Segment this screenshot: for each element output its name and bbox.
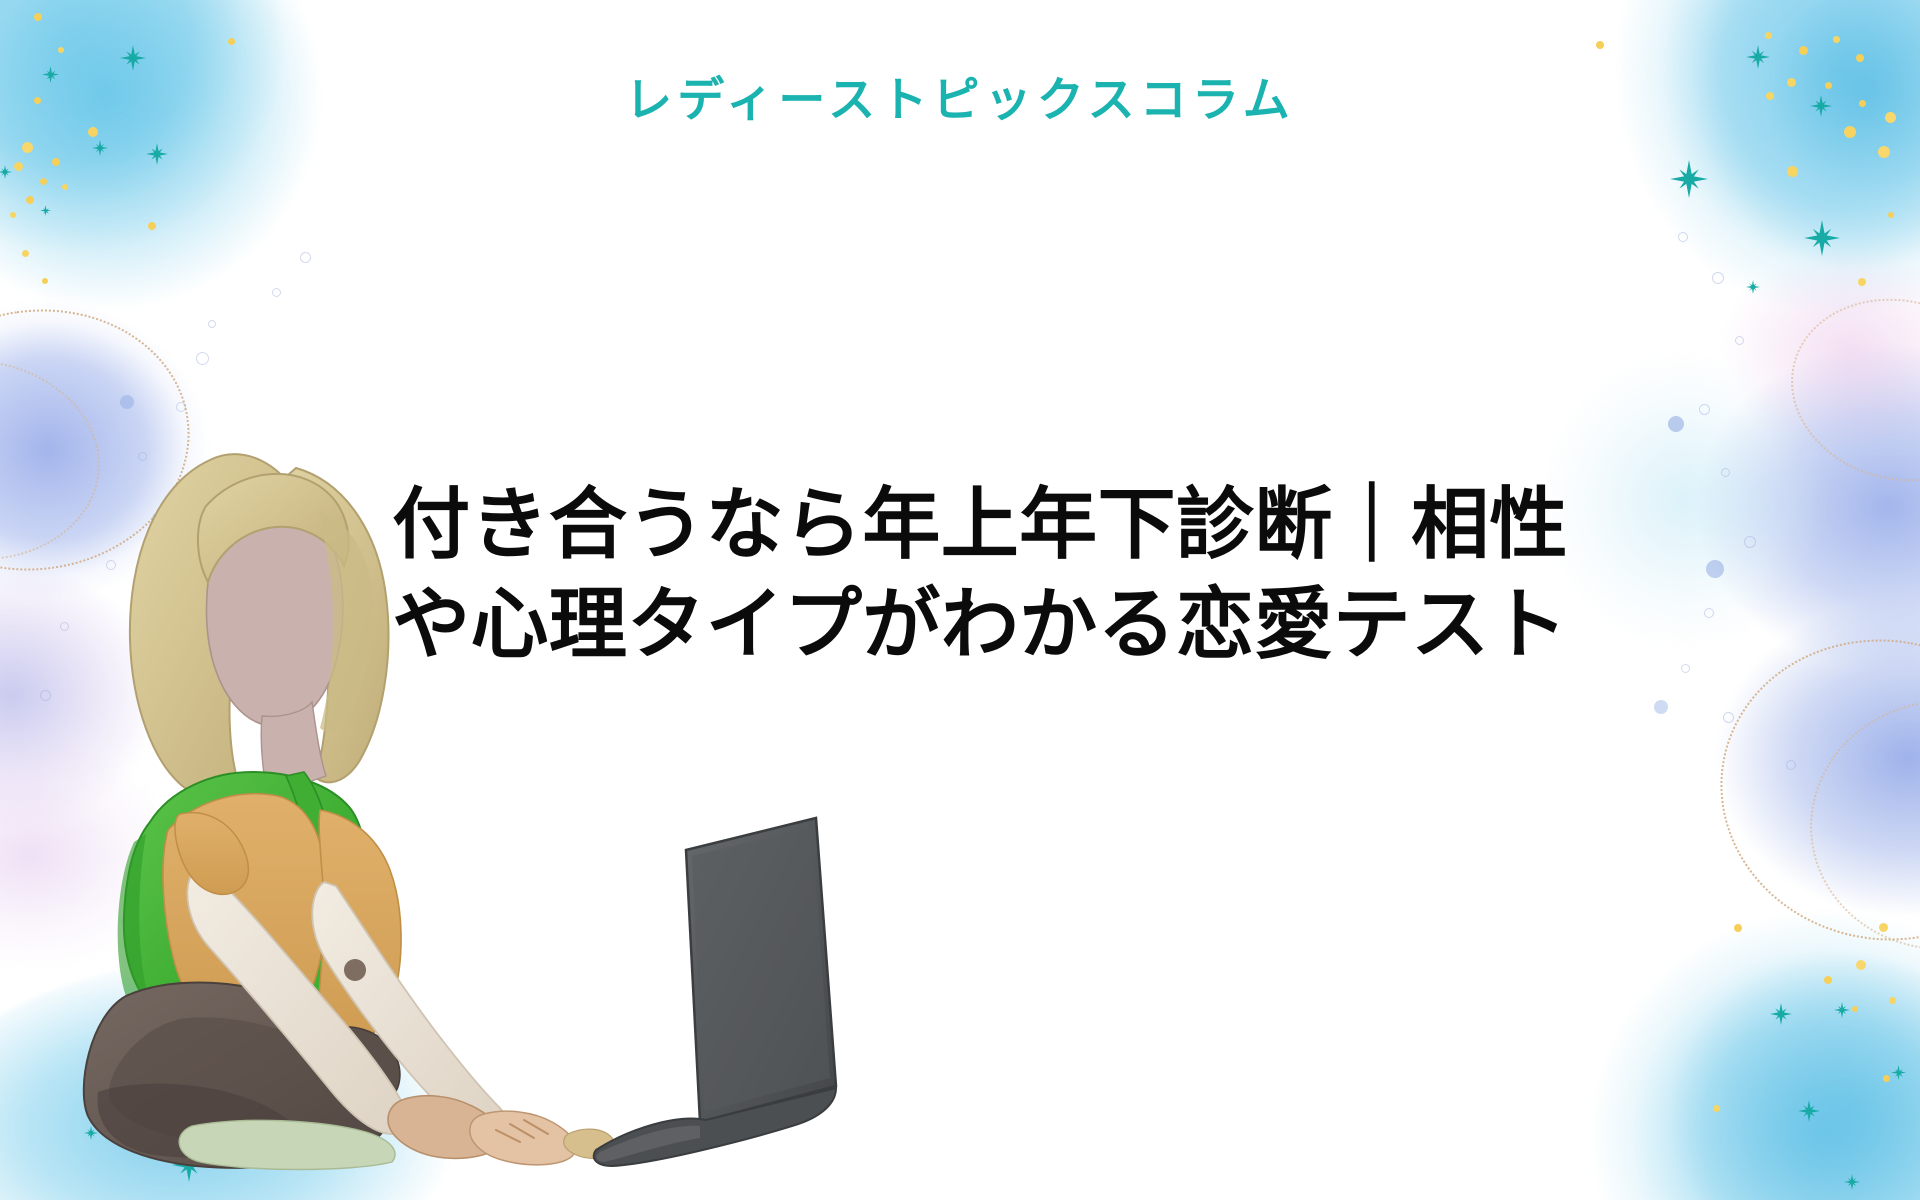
gold-dot: [1824, 976, 1832, 984]
page-title-line-2: や心理タイプがわかる恋愛テスト: [340, 575, 1620, 675]
forearm-detail: [344, 959, 366, 981]
gold-dot: [1713, 1105, 1720, 1112]
sparkle-star-icon: [146, 143, 168, 165]
gold-dot: [22, 250, 29, 257]
sparkle-star-icon: [1746, 45, 1770, 69]
sparkle-star-icon: [1798, 1100, 1820, 1122]
ink-blob-right-upper: [1680, 330, 1920, 670]
gold-dot: [1889, 997, 1896, 1004]
gold-dot: [1734, 924, 1742, 932]
bokeh-ring: [1735, 336, 1744, 345]
watercolor-wash-top-left: [0, 0, 420, 300]
glitter-vein-right-3: [1771, 276, 1920, 504]
gold-dot: [10, 212, 16, 218]
sparkle-star-icon: [1804, 220, 1840, 256]
glitter-vein-right-2: [1800, 689, 1920, 962]
gold-dot: [42, 278, 48, 284]
bokeh-ring: [272, 288, 281, 297]
gold-dot: [148, 222, 156, 230]
gold-dot: [22, 142, 33, 153]
gold-dot: [34, 13, 42, 21]
ink-blob-right-lilac: [1720, 250, 1920, 450]
watercolor-wash-top-right: [1470, 0, 1920, 340]
gold-dot: [228, 38, 235, 45]
bokeh-dot: [1668, 416, 1684, 432]
sparkle-star-icon: [1844, 1174, 1860, 1190]
gold-dot: [1888, 212, 1894, 218]
gold-dot: [1879, 923, 1888, 932]
sparkle-star-icon: [92, 140, 108, 156]
sparkle-star-icon: [1770, 1003, 1792, 1025]
sparkle-star-icon: [1834, 1002, 1850, 1018]
page-title-line-1: 付き合うなら年上年下診断｜相性: [340, 475, 1620, 575]
bokeh-ring: [1678, 232, 1688, 242]
sparkle-star-icon: [1746, 280, 1760, 294]
bokeh-ring: [208, 320, 216, 328]
bokeh-ring: [1699, 404, 1710, 415]
gold-dot: [1799, 46, 1808, 55]
sparkle-star-icon: [1891, 1065, 1906, 1080]
poster-canvas: レディーストピックスコラム: [0, 0, 1920, 1200]
gold-dot: [1856, 960, 1866, 970]
gold-dot: [1787, 166, 1798, 177]
bokeh-ring: [300, 252, 311, 263]
bokeh-dot: [1706, 560, 1724, 578]
bokeh-ring: [1721, 468, 1730, 477]
glitter-vein-right-1: [1696, 614, 1920, 967]
sparkle-star-icon: [0, 165, 12, 179]
bokeh-ring: [1744, 536, 1756, 548]
gold-dot: [14, 162, 23, 171]
bokeh-ring: [1712, 272, 1724, 284]
gold-dot: [1883, 1075, 1890, 1082]
gold-dot: [88, 127, 98, 137]
gold-dot: [62, 184, 68, 190]
gold-dot: [1765, 32, 1772, 39]
sparkle-star-icon: [40, 205, 51, 216]
gold-dot: [1878, 146, 1890, 158]
gold-dot: [1852, 1006, 1858, 1012]
bokeh-dot: [1654, 700, 1668, 714]
sparkle-star-icon: [120, 45, 146, 71]
watercolor-wash-top-left-inner: [0, 0, 370, 310]
gold-dot: [26, 196, 34, 204]
watercolor-wash-bottom-right: [1440, 890, 1920, 1200]
page-title: 付き合うなら年上年下診断｜相性 や心理タイプがわかる恋愛テスト: [340, 475, 1620, 675]
bokeh-ring: [196, 352, 209, 365]
bokeh-dot: [120, 395, 134, 409]
sparkle-star-icon: [1670, 160, 1708, 198]
gold-dot: [58, 47, 64, 53]
header-label: レディーストピックスコラム: [0, 74, 1920, 126]
bokeh-ring: [1681, 664, 1690, 673]
bokeh-ring: [1723, 712, 1734, 723]
gold-dot: [52, 158, 60, 166]
gold-dot: [1858, 278, 1866, 286]
ink-blob-right-lower: [1700, 600, 1920, 930]
gold-dot: [40, 178, 47, 185]
laptop-screen-inner: [692, 827, 830, 1112]
gold-dot: [1596, 41, 1604, 49]
gold-dot: [1833, 36, 1840, 43]
watercolor-wash-top-right-inner: [1610, 0, 1920, 310]
bokeh-ring: [1786, 760, 1796, 770]
bokeh-ring: [1704, 608, 1714, 618]
right-hand: [470, 1111, 576, 1165]
gold-dot: [1844, 126, 1856, 138]
watercolor-wash-bottom-right-inner: [1600, 950, 1920, 1200]
gold-dot: [1856, 54, 1864, 62]
